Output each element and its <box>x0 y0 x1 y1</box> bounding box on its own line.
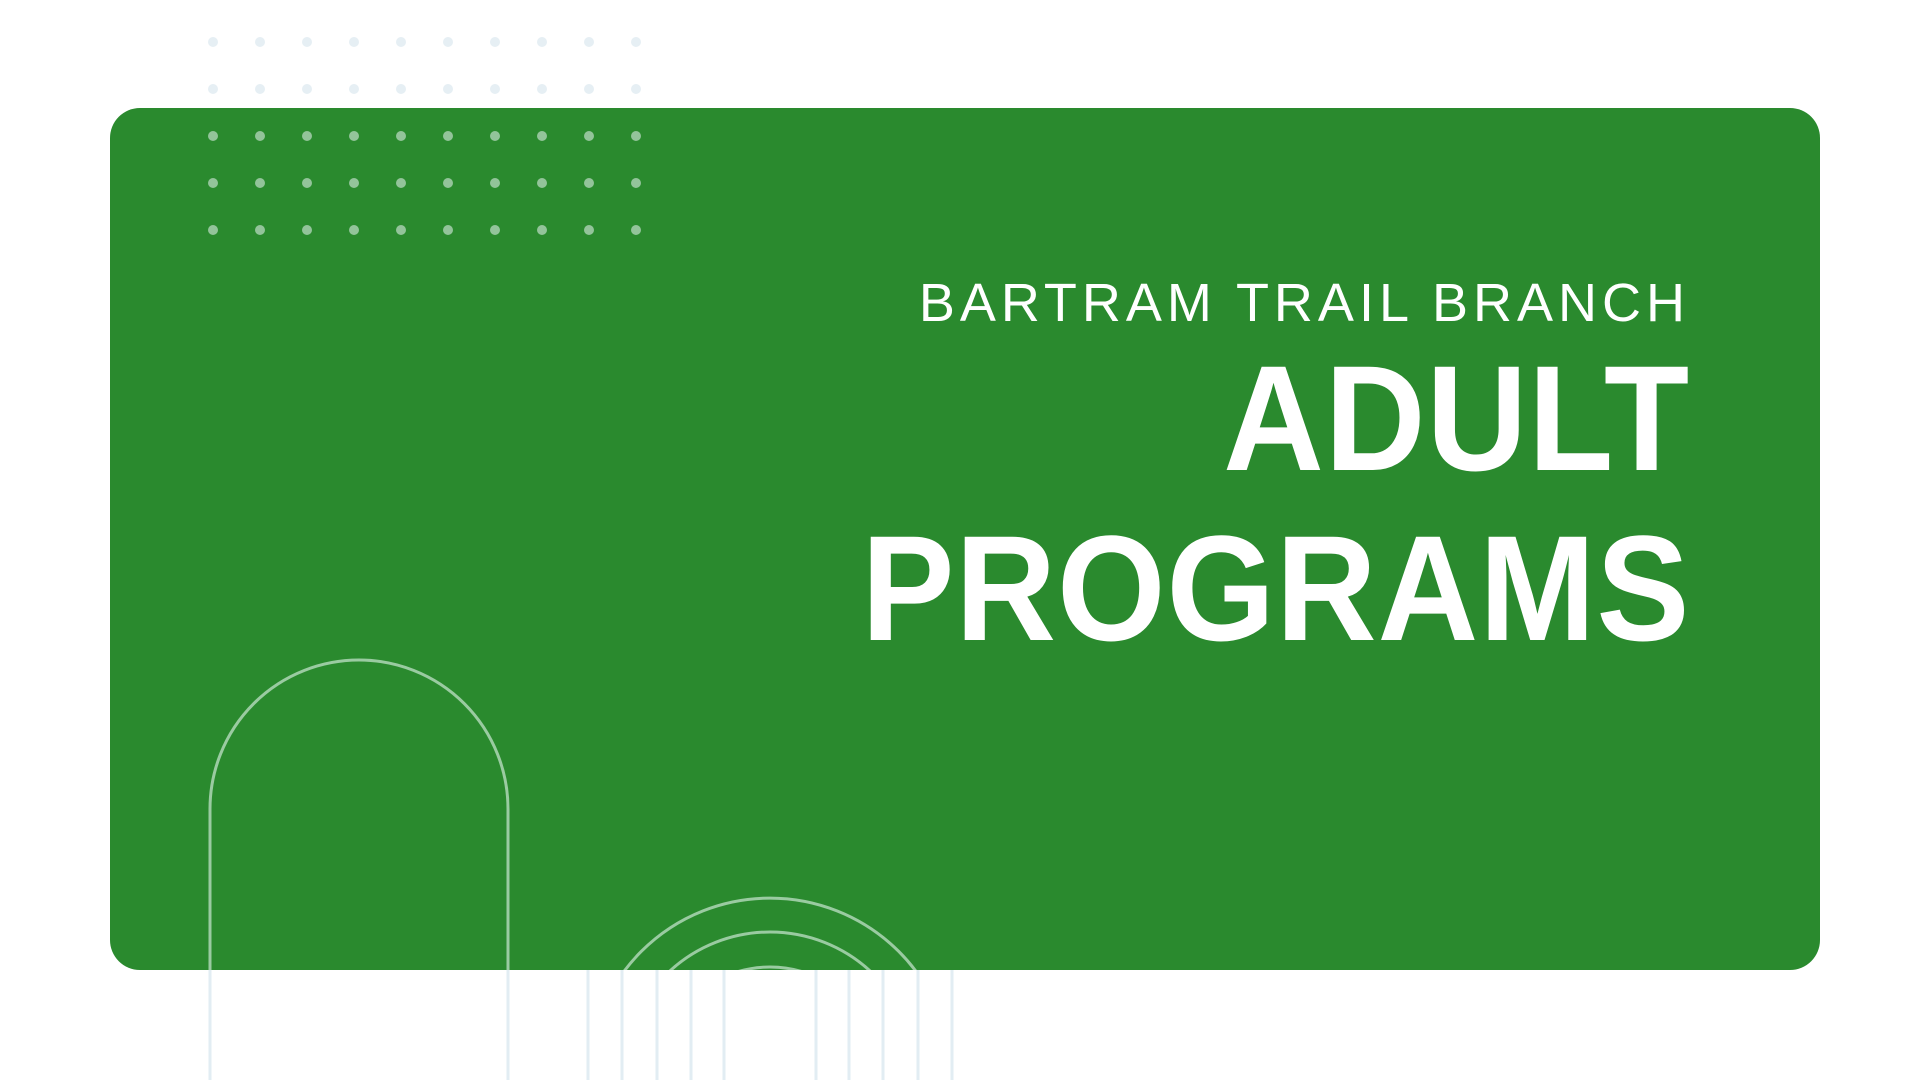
card-decoration-layer <box>110 108 1820 970</box>
dot-grid-inside-icon <box>208 131 641 235</box>
concentric-arches-inside-icon <box>588 898 952 970</box>
dot-grid-outside-icon <box>208 37 641 94</box>
branch-eyebrow-text: BARTRAM TRAIL BRANCH <box>919 276 1690 330</box>
green-card: BARTRAM TRAIL BRANCH ADULT PROGRAMS <box>110 108 1820 970</box>
banner-canvas: BARTRAM TRAIL BRANCH ADULT PROGRAMS <box>0 0 1920 1080</box>
headline-line-two: PROGRAMS <box>861 500 1690 677</box>
headline-group: BARTRAM TRAIL BRANCH ADULT PROGRAMS <box>110 108 1820 970</box>
concentric-arches-outside-icon <box>588 970 952 1080</box>
large-arch-outside-icon <box>210 970 508 1080</box>
headline-line-one: ADULT <box>1223 330 1690 507</box>
large-arch-inside-icon <box>210 660 508 970</box>
